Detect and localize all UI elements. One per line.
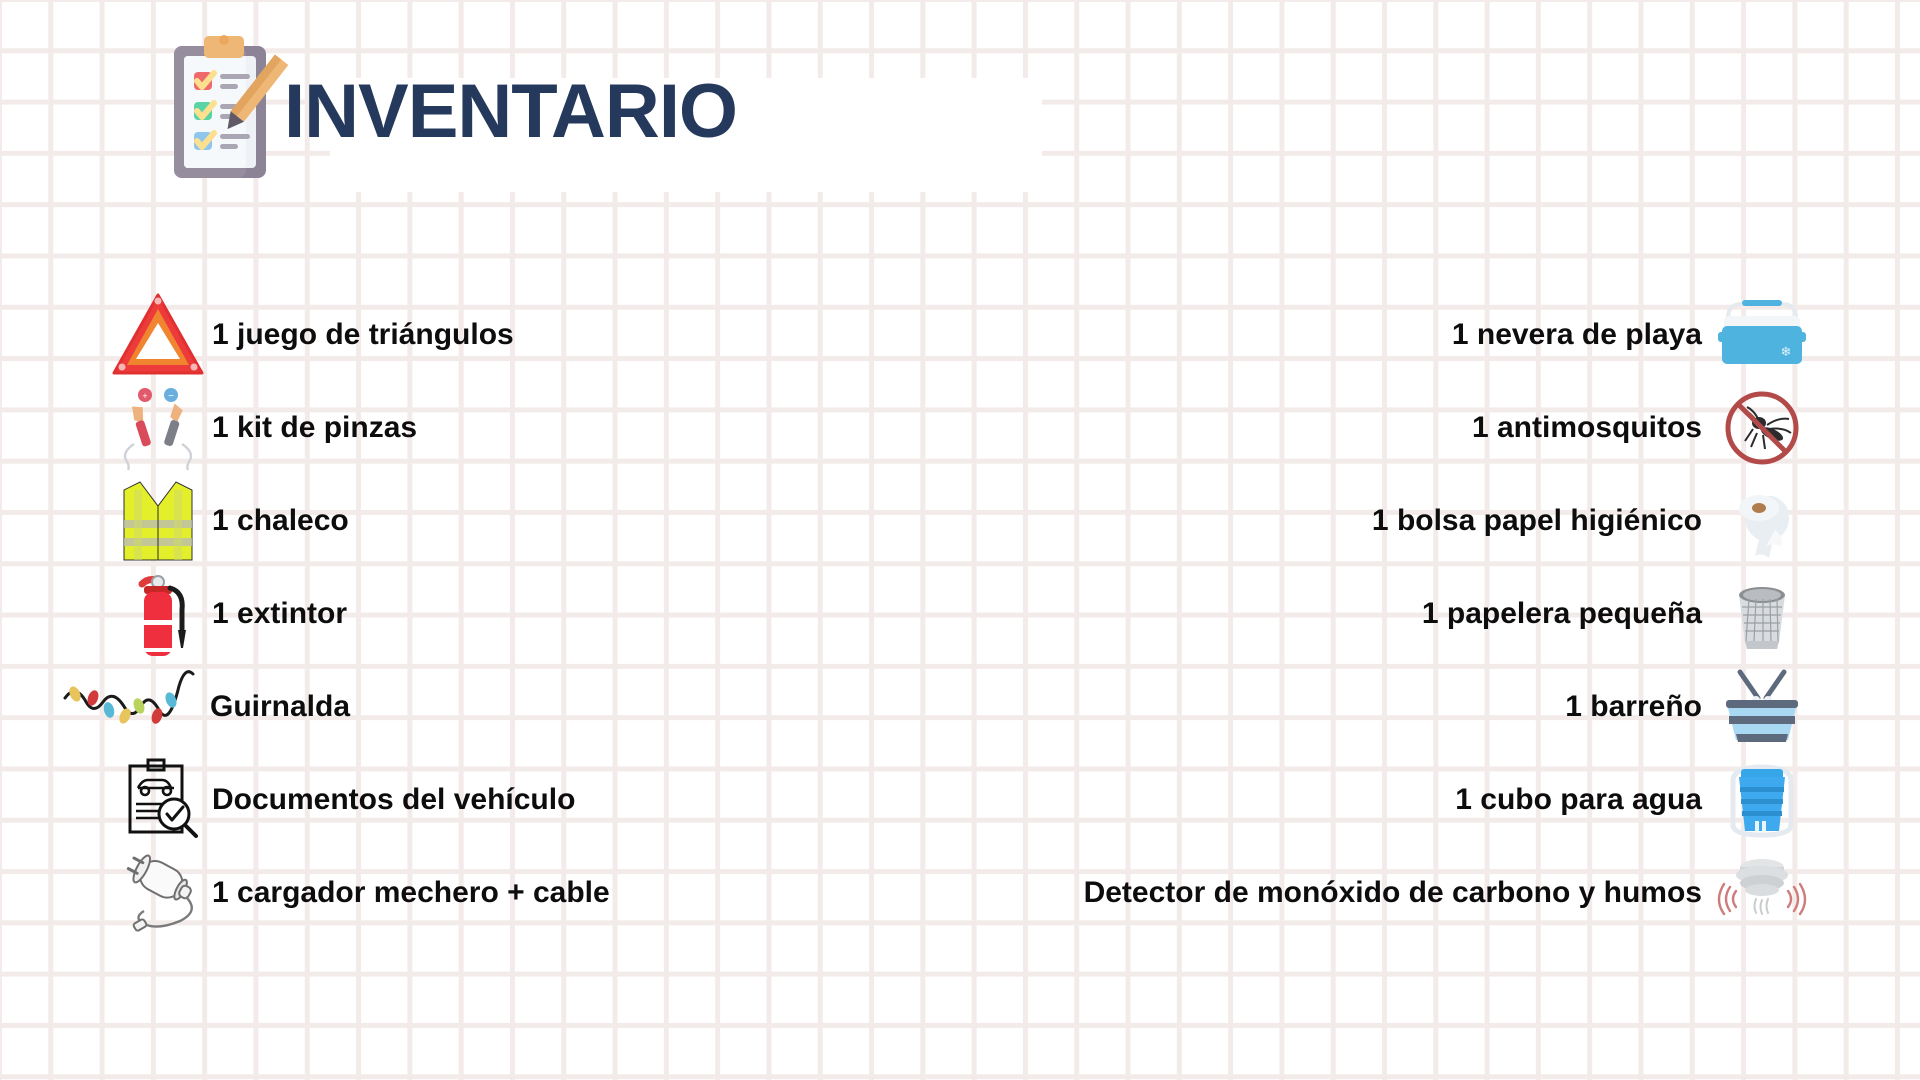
right-item-list: 1 nevera de playa ❄ 1 antimosquitos: [1180, 288, 1812, 939]
toilet-paper-roll-icon: [1712, 474, 1812, 567]
cooler-box-icon: ❄: [1712, 288, 1812, 381]
list-item-label: 1 papelera pequeña: [1422, 599, 1702, 629]
list-item-label: 1 bolsa papel higiénico: [1372, 506, 1702, 536]
list-item: 1 extintor: [108, 567, 728, 660]
list-item: + − 1 kit de pinzas: [108, 381, 728, 474]
wash-basin-icon: [1712, 660, 1812, 753]
list-item: 1 antimosquitos: [1180, 381, 1812, 474]
svg-text:−: −: [168, 391, 174, 402]
list-item-label: Guirnalda: [210, 692, 350, 722]
water-bucket-icon: [1712, 753, 1812, 846]
svg-text:❄: ❄: [1781, 345, 1792, 360]
left-item-list: 1 juego de triángulos + −: [108, 288, 728, 939]
list-item: 1 papelera pequeña: [1180, 567, 1812, 660]
list-item: Guirnalda: [108, 660, 728, 753]
string-lights-icon: [66, 660, 206, 753]
list-item: 1 barreño: [1180, 660, 1812, 753]
list-item-label: 1 chaleco: [212, 506, 349, 536]
list-item-label: 1 kit de pinzas: [212, 413, 417, 443]
safety-vest-icon: [108, 474, 208, 567]
waste-basket-icon: [1712, 567, 1812, 660]
list-item-label: 1 extintor: [212, 599, 347, 629]
smoke-detector-icon: [1712, 846, 1812, 939]
page-title: INVENTARIO: [284, 74, 737, 150]
list-item: 1 cubo para agua: [1180, 753, 1812, 846]
list-item: 1 bolsa papel higiénico: [1180, 474, 1812, 567]
list-item-label: 1 antimosquitos: [1472, 413, 1702, 443]
list-item: 1 juego de triángulos: [108, 288, 728, 381]
list-item: Documentos del vehículo: [108, 753, 728, 846]
inventory-poster: INVENTARIO 1 juego de triángulos +: [0, 0, 1920, 1080]
list-item: 1 chaleco: [108, 474, 728, 567]
list-item-label: 1 nevera de playa: [1452, 320, 1702, 350]
list-item: 1 cargador mechero + cable: [108, 846, 728, 939]
clipboard-checklist-pencil-icon: [170, 32, 290, 192]
list-item-label: 1 juego de triángulos: [212, 320, 514, 350]
no-mosquito-icon: [1712, 381, 1812, 474]
list-item-label: 1 barreño: [1565, 692, 1702, 722]
car-charger-cable-icon: [108, 846, 208, 939]
page-header: INVENTARIO: [170, 28, 737, 196]
list-item-label: Documentos del vehículo: [212, 785, 575, 815]
warning-triangle-icon: [108, 288, 208, 381]
list-item-label: 1 cubo para agua: [1455, 785, 1702, 815]
fire-extinguisher-icon: [108, 567, 208, 660]
svg-text:+: +: [142, 391, 147, 401]
jumper-cables-icon: + −: [108, 381, 208, 474]
list-item-label: Detector de monóxido de carbono y humos: [1084, 878, 1702, 908]
vehicle-documents-icon: [108, 753, 208, 846]
list-item-label: 1 cargador mechero + cable: [212, 878, 610, 908]
list-item: Detector de monóxido de carbono y humos: [1180, 846, 1812, 939]
list-item: 1 nevera de playa ❄: [1180, 288, 1812, 381]
